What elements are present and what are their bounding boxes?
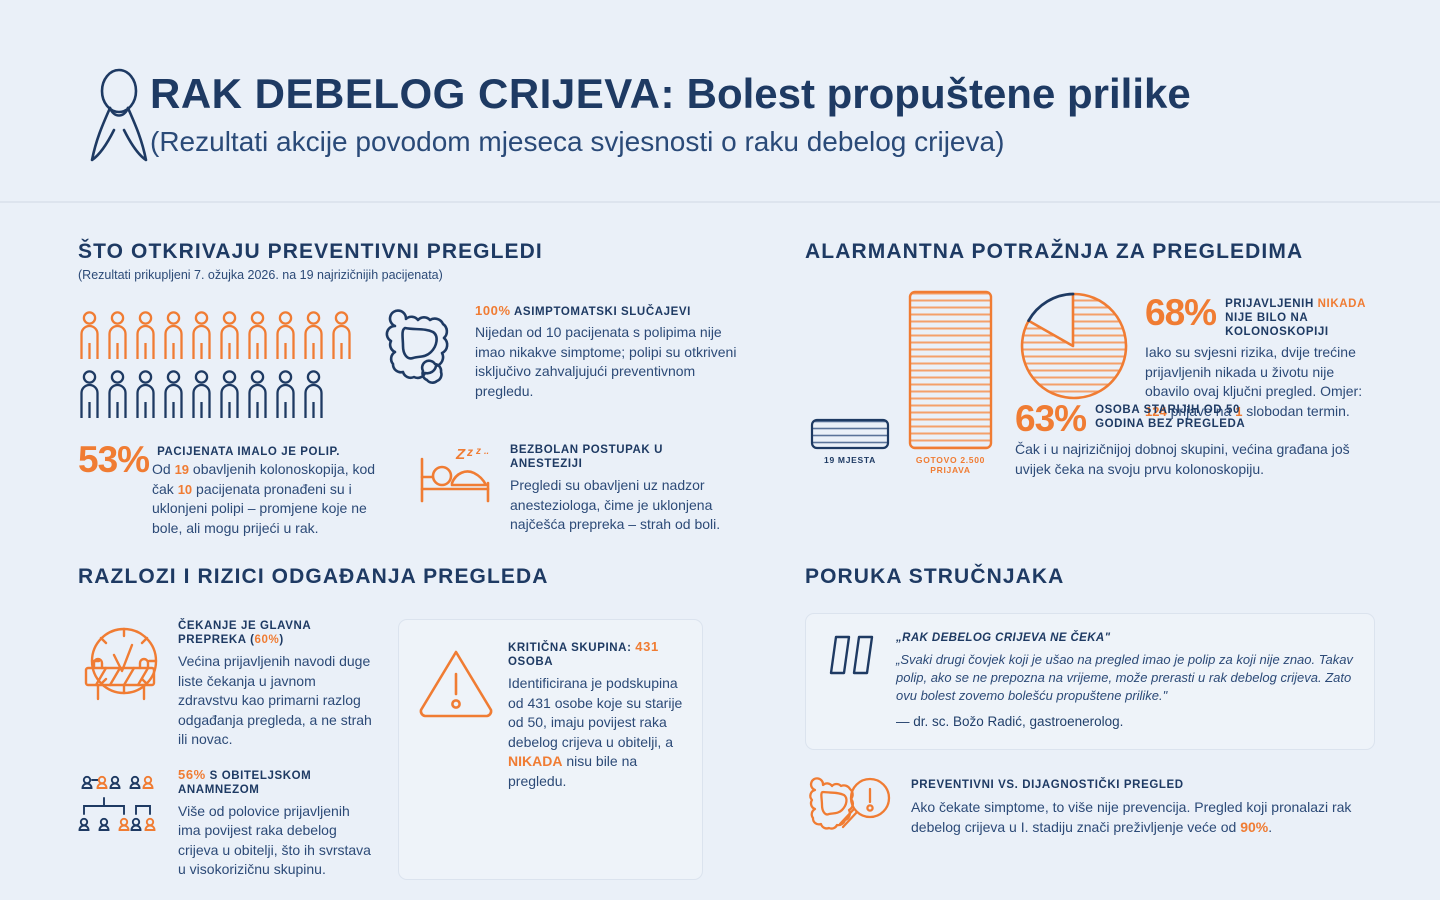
- waiting-label-2: ): [279, 634, 283, 646]
- demand-chart: 19 MJESTA GOTOVO 2.500 PRIJAVA: [805, 290, 1375, 485]
- people-row-navy: [78, 369, 353, 421]
- never-screened-pct: 68%: [1145, 296, 1216, 330]
- prevention-num-90: 90%: [1240, 819, 1268, 835]
- over50-body: Čak i u najrizičnijoj dobnoj skupini, ve…: [1015, 440, 1380, 479]
- quote-attribution: — dr. sc. Božo Radić, gastroenerolog.: [896, 714, 1354, 729]
- family-label: 56% S OBITELJSKOM ANAMNEZOM: [178, 768, 376, 797]
- asymptomatic-label: 100% ASIMPTOMATSKI SLUČAJEVI: [475, 304, 738, 319]
- page-title-rest: Bolest propuštene prilike: [687, 70, 1191, 117]
- colon-icon: [381, 304, 461, 421]
- critical-body-never: NIKADA: [508, 753, 562, 769]
- asymptomatic-block: 100% ASIMPTOMATSKI SLUČAJEVI Nijedan od …: [381, 304, 738, 421]
- critical-body-1: Identificirana je podskupina od 431 osob…: [508, 675, 682, 750]
- bar-slots-caption: 19 MJESTA: [810, 455, 890, 465]
- section-demand: ALARMANTNA POTRAŽNJA ZA PREGLEDIMA: [805, 240, 1375, 485]
- svg-text:..: ..: [484, 446, 489, 456]
- quote-title: „RAK DEBELOG CRIJEVA NE ČEKA": [896, 632, 1354, 644]
- warning-triangle-icon: [417, 640, 495, 791]
- over50-label: OSOBA STARIJIH OD 50 GODINA BEZ PREGLEDA: [1095, 402, 1245, 431]
- family-body: Više od polovice prijavljenih ima povije…: [178, 802, 376, 880]
- family-pct: 56%: [178, 767, 206, 782]
- family-block: 56% S OBITELJSKOM ANAMNEZOM Više od polo…: [78, 768, 376, 880]
- critical-group-panel: KRITIČNA SKUPINA: 431 OSOBA Identificira…: [398, 619, 703, 880]
- quote-body: „Svaki drugi čovjek koji je ušao na preg…: [896, 651, 1354, 705]
- polyp-body-1: Od: [152, 461, 175, 477]
- prevention-block: PREVENTIVNI VS. DIJAGNOSTIČKI PREGLED Ak…: [805, 772, 1375, 849]
- critical-label-num: 431: [635, 639, 659, 654]
- prevention-body: Ako čekate simptome, to više nije preven…: [911, 798, 1375, 837]
- waiting-label-1: ČEKANJE JE GLAVNA PREPREKA (: [178, 620, 311, 646]
- page-title: RAK DEBELOG CRIJEVA: Bolest propuštene p…: [150, 66, 1390, 122]
- svg-text:Z: Z: [455, 446, 466, 463]
- title-wrap: RAK DEBELOG CRIJEVA: Bolest propuštene p…: [150, 66, 1390, 162]
- never-screened-label-1: PRIJAVLJENIH: [1225, 298, 1318, 310]
- never-screened-label-highlight: NIKADA: [1318, 298, 1366, 310]
- anesthesia-body: Pregledi su obavljeni uz nadzor anestezi…: [510, 476, 738, 535]
- anesthesia-block: Z z z .. BEZBOLAN POSTUPAK U ANESTEZIJI …: [416, 443, 738, 538]
- over50-label-2: GODINA BEZ PREGLEDA: [1095, 417, 1245, 431]
- section-screening-subheading: (Rezultati prikupljeni 7. ožujka 2026. n…: [78, 268, 738, 282]
- clock-barrier-icon: [78, 619, 166, 750]
- polyp-num-19: 19: [175, 462, 189, 477]
- awareness-ribbon-icon: [84, 68, 154, 168]
- section-demand-heading: ALARMANTNA POTRAŽNJA ZA PREGLEDIMA: [805, 240, 1375, 264]
- critical-label-2: OSOBA: [508, 656, 553, 668]
- pie-never-screened: [1017, 290, 1129, 407]
- prevention-body-1: Ako čekate simptome, to više nije preven…: [911, 799, 1351, 835]
- infographic-page: RAK DEBELOG CRIJEVA: Bolest propuštene p…: [0, 0, 1440, 900]
- page-title-strong: RAK DEBELOG CRIJEVA:: [150, 70, 675, 117]
- critical-body: Identificirana je podskupina od 431 osob…: [508, 674, 684, 791]
- asymptomatic-pct: 100%: [475, 303, 511, 318]
- asymptomatic-label-text: ASIMPTOMATSKI SLUČAJEVI: [514, 306, 691, 318]
- bar-applications: [908, 290, 993, 455]
- section-expert-heading: PORUKA STRUČNJAKA: [805, 565, 1375, 589]
- page-header: RAK DEBELOG CRIJEVA: Bolest propuštene p…: [0, 0, 1440, 203]
- section-screening: ŠTO OTKRIVAJU PREVENTIVNI PREGLEDI (Rezu…: [78, 240, 738, 538]
- sleeping-bed-icon: Z z z ..: [416, 443, 496, 538]
- expert-quote-panel: „RAK DEBELOG CRIJEVA NE ČEKA" „Svaki dru…: [805, 613, 1375, 750]
- section-reasons: RAZLOZI I RIZICI ODGAĐANJA PREGLEDA: [78, 565, 738, 880]
- never-screened-body-1: Iako su svjesni rizika, dvije trećine pr…: [1145, 344, 1362, 399]
- waiting-label-pct: 60%: [255, 634, 280, 646]
- anesthesia-label: BEZBOLAN POSTUPAK U ANESTEZIJI: [510, 443, 738, 471]
- polyp-block: 53% PACIJENATA IMALO JE POLIP. Od 19 oba…: [78, 443, 388, 538]
- quote-marks-icon: [826, 632, 880, 729]
- polyp-pct: 53%: [78, 443, 149, 477]
- over50-label-1: OSOBA STARIJIH OD 50: [1095, 403, 1245, 417]
- svg-text:z: z: [466, 445, 473, 459]
- never-screened-label: PRIJAVLJENIH NIKADA NIJE BILO NA KOLONOS…: [1225, 296, 1380, 339]
- page-subtitle: (Rezultati akcije povodom mjeseca svjesn…: [150, 122, 1390, 162]
- waiting-body: Većina prijavljenih navodi duge liste če…: [178, 652, 376, 750]
- bar-slots: [810, 418, 890, 455]
- waiting-block: ČEKANJE JE GLAVNA PREPREKA (60%) Većina …: [78, 619, 376, 750]
- people-pictogram: [78, 304, 353, 421]
- section-screening-heading: ŠTO OTKRIVAJU PREVENTIVNI PREGLEDI: [78, 240, 738, 264]
- polyp-label: PACIJENATA IMALO JE POLIP.: [157, 445, 388, 459]
- section-expert: PORUKA STRUČNJAKA „RAK DEBELOG CRIJEVA N…: [805, 565, 1375, 849]
- svg-text:z: z: [475, 446, 481, 457]
- never-screened-label-2: NIJE BILO NA KOLONOSKOPIJI: [1225, 311, 1380, 339]
- critical-label-1: KRITIČNA SKUPINA:: [508, 642, 635, 654]
- polyp-num-10: 10: [178, 482, 192, 497]
- family-tree-icon: [78, 768, 166, 880]
- over50-pct: 63%: [1015, 402, 1086, 436]
- section-reasons-heading: RAZLOZI I RIZICI ODGAĐANJA PREGLEDA: [78, 565, 738, 589]
- asymptomatic-body: Nijedan od 10 pacijenata s polipima nije…: [475, 323, 738, 401]
- over50-block: 63% OSOBA STARIJIH OD 50 GODINA BEZ PREG…: [1015, 402, 1380, 479]
- prevention-body-2: .: [1268, 819, 1272, 835]
- waiting-label: ČEKANJE JE GLAVNA PREPREKA (60%): [178, 619, 376, 647]
- people-row-orange: [78, 310, 353, 362]
- colon-magnifier-icon: [805, 772, 897, 849]
- bar-applications-caption: GOTOVO 2.500 PRIJAVA: [898, 455, 1003, 475]
- prevention-label: PREVENTIVNI VS. DIJAGNOSTIČKI PREGLED: [911, 778, 1375, 792]
- critical-label: KRITIČNA SKUPINA: 431 OSOBA: [508, 640, 684, 669]
